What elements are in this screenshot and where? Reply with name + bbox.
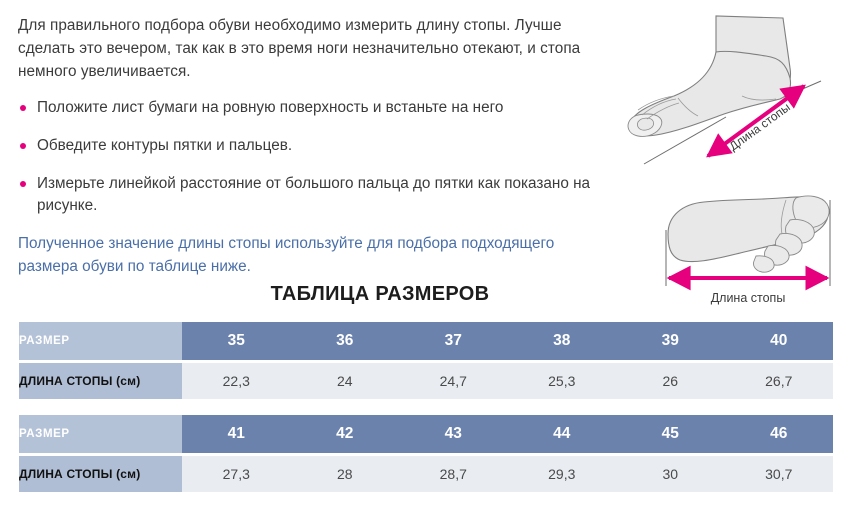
foot-sole-view-illustration: Длина стопы [640, 182, 851, 310]
size-header-cell: 35 [182, 322, 291, 360]
length-cell: 25,3 [508, 363, 617, 399]
bullet-dot-icon [20, 143, 26, 149]
size-header-cell: 46 [725, 415, 834, 453]
size-header-cell: 41 [182, 415, 291, 453]
table-row: РАЗМЕР 41 42 43 44 45 46 [19, 415, 833, 453]
list-item: Положите лист бумаги на ровную поверхнос… [18, 97, 608, 119]
length-cell: 26 [616, 363, 725, 399]
intro-paragraph: Для правильного подбора обуви необходимо… [18, 14, 608, 83]
length-row-label: ДЛИНА СТОПЫ (см) [19, 456, 182, 492]
length-cell: 28,7 [399, 456, 508, 492]
table-row: РАЗМЕР 35 36 37 38 39 40 [19, 322, 833, 360]
size-header-cell: 39 [616, 322, 725, 360]
size-table-1: РАЗМЕР 35 36 37 38 39 40 ДЛИНА СТОПЫ (см… [19, 322, 833, 399]
bullet-dot-icon [20, 181, 26, 187]
size-header-cell: 45 [616, 415, 725, 453]
measure-label-sole: Длина стопы [711, 291, 786, 305]
length-cell: 27,3 [182, 456, 291, 492]
size-header-label: РАЗМЕР [19, 322, 182, 360]
steps-list: Положите лист бумаги на ровную поверхнос… [18, 97, 608, 217]
list-item: Измерьте линейкой расстояние от большого… [18, 173, 608, 217]
length-cell: 22,3 [182, 363, 291, 399]
length-cell: 24 [291, 363, 400, 399]
bullet-dot-icon [20, 105, 26, 111]
toe-nail-shape [637, 118, 653, 130]
step-text: Положите лист бумаги на ровную поверхнос… [37, 99, 503, 116]
foot-side-view-illustration: Длина стопы [616, 2, 851, 180]
step-text: Обведите контуры пятки и пальцев. [37, 137, 292, 154]
length-cell: 24,7 [399, 363, 508, 399]
size-table-2: РАЗМЕР 41 42 43 44 45 46 ДЛИНА СТОПЫ (см… [19, 415, 833, 492]
list-item: Обведите контуры пятки и пальцев. [18, 135, 608, 157]
size-header-cell: 38 [508, 322, 617, 360]
size-header-cell: 44 [508, 415, 617, 453]
size-header-cell: 42 [291, 415, 400, 453]
step-text: Измерьте линейкой расстояние от большого… [37, 175, 590, 214]
table-row: ДЛИНА СТОПЫ (см) 27,3 28 28,7 29,3 30 30… [19, 456, 833, 492]
highlight-paragraph: Полученное значение длины стопы использу… [18, 232, 608, 278]
table-row: ДЛИНА СТОПЫ (см) 22,3 24 24,7 25,3 26 26… [19, 363, 833, 399]
length-cell: 30,7 [725, 456, 834, 492]
size-header-cell: 43 [399, 415, 508, 453]
size-header-cell: 36 [291, 322, 400, 360]
length-cell: 26,7 [725, 363, 834, 399]
instructions-column: Для правильного подбора обуви необходимо… [18, 14, 608, 278]
length-row-label: ДЛИНА СТОПЫ (см) [19, 363, 182, 399]
size-header-cell: 40 [725, 322, 834, 360]
length-cell: 29,3 [508, 456, 617, 492]
length-cell: 28 [291, 456, 400, 492]
size-header-cell: 37 [399, 322, 508, 360]
size-header-label: РАЗМЕР [19, 415, 182, 453]
length-cell: 30 [616, 456, 725, 492]
